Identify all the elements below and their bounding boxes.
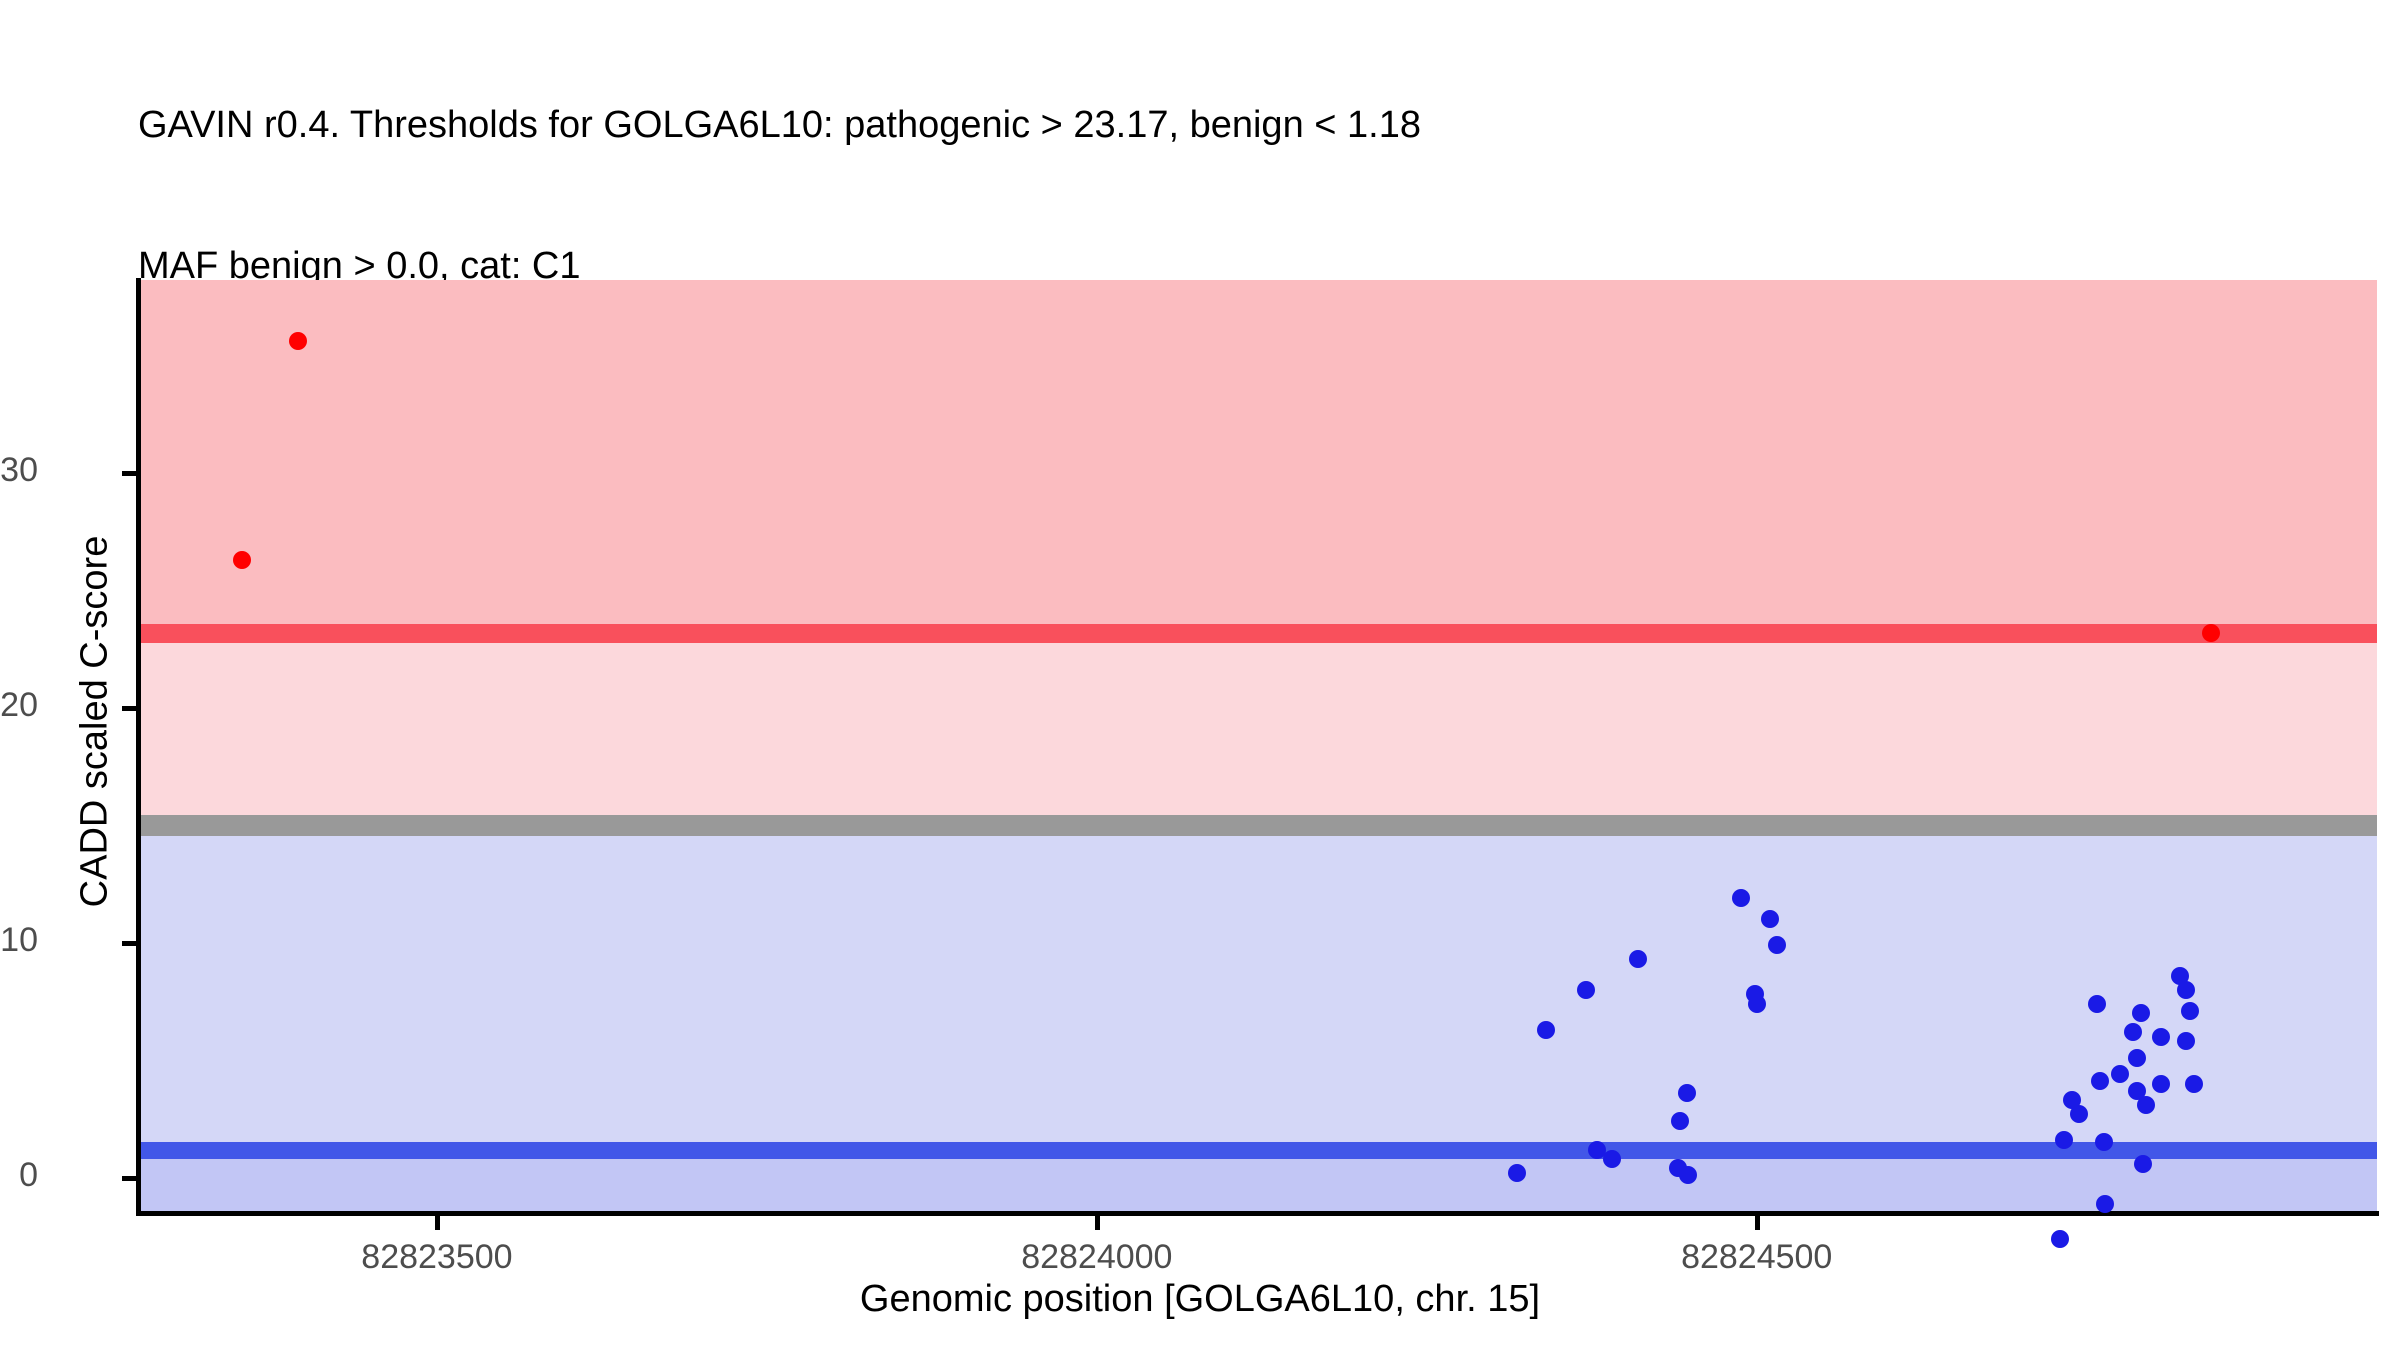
x-tick-label: 82824500 [1681,1238,1832,1277]
x-tick-mark [435,1216,440,1230]
y-tick-label: 10 [0,921,38,960]
gnomad-point [2152,1075,2170,1093]
y-tick-mark [122,941,136,946]
gnomad-point [1768,936,1786,954]
scatter-plot-panel [140,280,2377,1213]
gnomad-point [2137,1096,2155,1114]
gnomad-point [2185,1075,2203,1093]
gnomad-point [2132,1004,2150,1022]
gnomad-point [1508,1164,1526,1182]
gnomad-point [1678,1084,1696,1102]
gnomad-point [2177,981,2195,999]
gnomad-point [2181,1002,2199,1020]
band-benign-zone [140,825,2377,1150]
y-tick-mark [122,706,136,711]
pathogenic-threshold-line [140,624,2377,643]
title-line-1: GAVIN r0.4. Thresholds for GOLGA6L10: pa… [138,102,2378,149]
y-tick-label: 0 [19,1156,38,1195]
x-axis-line [136,1211,2379,1216]
x-tick-mark [1755,1216,1760,1230]
x-tick-label: 82824000 [1021,1238,1172,1277]
fallback-threshold-line [140,815,2377,836]
band-pathogenic-zone [140,280,2377,633]
gnomad-point [2128,1049,2146,1067]
y-tick-mark [122,1176,136,1181]
x-tick-label: 82823500 [361,1238,512,1277]
gnomad-point [1732,889,1750,907]
y-tick-label: 30 [0,451,38,490]
pathogenic-point [233,551,251,569]
benign-threshold-line [140,1142,2377,1159]
y-axis-title: CADD scaled C-score [74,272,117,1172]
y-tick-label: 20 [0,686,38,725]
gnomad-point [2070,1105,2088,1123]
band-uncertain-zone [140,633,2377,825]
y-axis-line [136,278,141,1215]
x-axis-title: Genomic position [GOLGA6L10, chr. 15] [0,1278,2400,1321]
gnomad-point [2088,995,2106,1013]
gnomad-point [2177,1032,2195,1050]
gnomad-point [2111,1065,2129,1083]
gnomad-point [1629,950,1647,968]
band-below-benign-zone [140,1150,2377,1213]
gnomad-point [1761,910,1779,928]
y-tick-mark [122,471,136,476]
gnomad-point [1748,995,1766,1013]
gnomad-point [2096,1195,2114,1213]
gnomad-point [2152,1028,2170,1046]
x-tick-mark [1095,1216,1100,1230]
gnomad-point [1537,1021,1555,1039]
gnomad-point [2051,1230,2069,1248]
pathogenic-point [2202,624,2220,642]
gnomad-point [2134,1155,2152,1173]
gnomad-point [1603,1150,1621,1168]
gnomad-point [2124,1023,2142,1041]
